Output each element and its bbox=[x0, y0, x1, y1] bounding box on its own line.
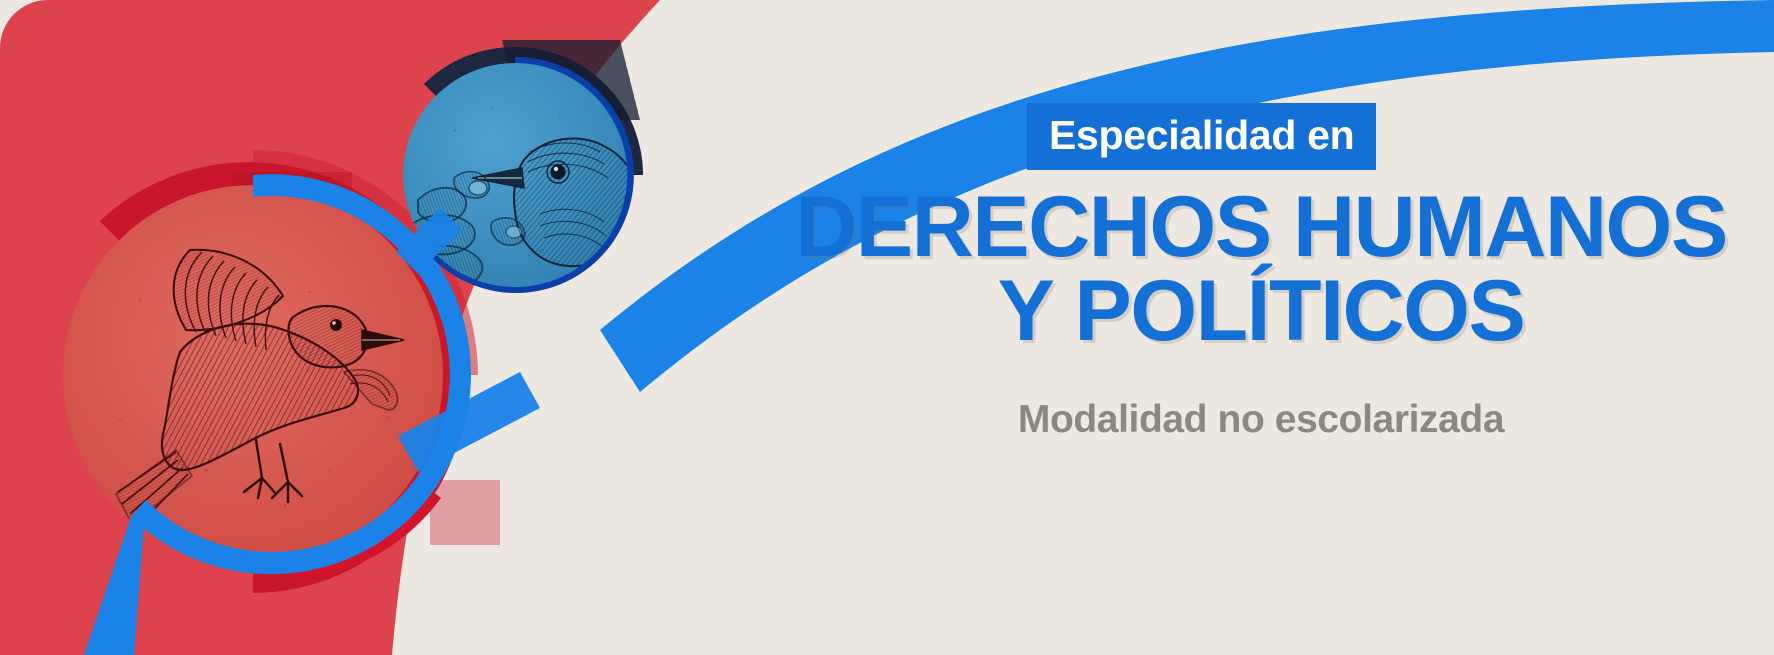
program-banner: Especialidad en DERECHOS HUMANOS Y POLÍT… bbox=[0, 0, 1774, 655]
title-line-2: Y POLÍTICOS bbox=[748, 269, 1774, 353]
bird-photo-red bbox=[63, 185, 443, 565]
subtitle: Modalidad no escolarizada bbox=[748, 398, 1774, 442]
eyebrow-badge: Especialidad en bbox=[1027, 103, 1376, 170]
title-line-1: DERECHOS HUMANOS bbox=[795, 179, 1727, 275]
banner-text-block: Especialidad en DERECHOS HUMANOS Y POLÍT… bbox=[748, 0, 1774, 655]
page-title: DERECHOS HUMANOS Y POLÍTICOS bbox=[748, 185, 1774, 354]
